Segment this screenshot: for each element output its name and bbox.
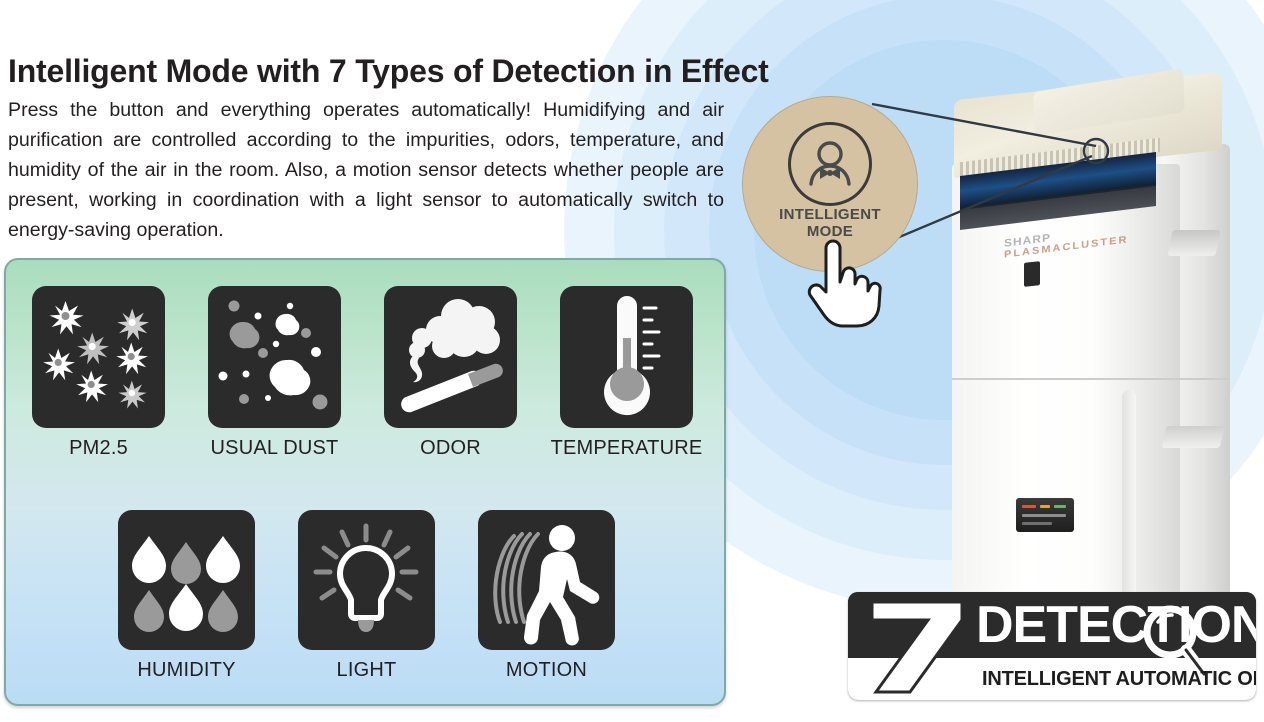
sensor-label: MOTION: [506, 659, 587, 682]
logo-tagline: INTELLIGENT AUTOMATIC OPERATION: [982, 664, 1256, 694]
person-bowtie-icon: [788, 122, 872, 206]
callout-label-line2: MODE: [742, 223, 918, 240]
sensor-row-bottom: HUMIDITY: [118, 510, 615, 682]
callout-label: INTELLIGENT MODE: [742, 206, 918, 240]
sensor-item-light[interactable]: LIGHT: [298, 510, 435, 682]
sensor-item-usual-dust[interactable]: USUAL DUST: [208, 286, 341, 460]
product-air-outlet: [1167, 230, 1221, 256]
sensor-label: PM2.5: [69, 437, 128, 460]
sensor-label: HUMIDITY: [137, 659, 235, 682]
sensor-item-odor[interactable]: ODOR: [384, 286, 517, 460]
sensor-item-temperature[interactable]: TEMPERATURE: [560, 286, 693, 460]
seven-detection-logo: DETECTION INTELLIGENT AUTOMATIC OPERATIO…: [848, 592, 1256, 700]
body-paragraph: Press the button and everything operates…: [8, 95, 724, 245]
walking-person-icon: [478, 510, 615, 650]
water-droplets-icon: [118, 510, 255, 650]
sensor-label: ODOR: [420, 437, 481, 460]
pollen-particles-icon: [32, 286, 165, 428]
pointing-hand-icon: [800, 240, 880, 326]
product-control-panel[interactable]: [1016, 498, 1074, 532]
sensor-item-pm25[interactable]: PM2.5: [32, 286, 165, 460]
sensor-label: TEMPERATURE: [551, 437, 703, 460]
logo-word-detection: DETECTION: [976, 596, 1256, 654]
cigarette-smoke-icon: [384, 286, 517, 428]
sensor-row-top: PM2.5: [32, 286, 693, 460]
air-purifier-product-image: SHARP PLASMACLUSTER: [938, 78, 1238, 638]
sensor-label: LIGHT: [337, 659, 397, 682]
sensor-panel: PM2.5: [4, 258, 726, 706]
product-lower-outlet: [1162, 426, 1225, 448]
paragraph-text: Press the button and everything operates…: [8, 95, 724, 245]
page-title: Intelligent Mode with 7 Types of Detecti…: [8, 53, 988, 90]
product-badge: [1024, 261, 1040, 287]
sensor-label: USUAL DUST: [211, 437, 339, 460]
light-bulb-icon: [298, 510, 435, 650]
product-door-handle: [1122, 390, 1136, 608]
sensor-item-humidity[interactable]: HUMIDITY: [118, 510, 255, 682]
thermometer-icon: [560, 286, 693, 428]
product-seam: [1142, 378, 1230, 380]
callout-label-line1: INTELLIGENT: [742, 206, 918, 223]
dust-clumps-icon: [208, 286, 341, 428]
logo-numeral-seven: [866, 598, 986, 696]
sensor-item-motion[interactable]: MOTION: [478, 510, 615, 682]
